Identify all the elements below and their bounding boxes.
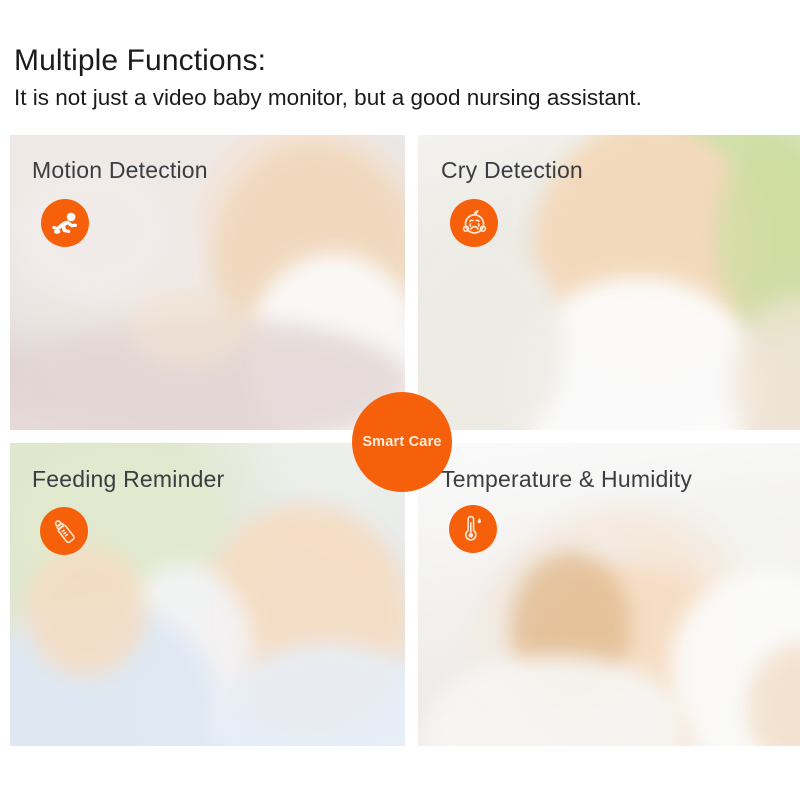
- feeding-reminder-badge[interactable]: [40, 507, 88, 555]
- feature-panel-motion-detection[interactable]: Motion Detection: [10, 135, 405, 430]
- feature-label-cry-detection: Cry Detection: [441, 157, 583, 184]
- page-subtitle: It is not just a video baby monitor, but…: [14, 84, 794, 112]
- page-title: Multiple Functions:: [14, 44, 794, 78]
- feature-panel-temperature-humidity[interactable]: Temperature & Humidity: [418, 443, 800, 746]
- feature-label-motion-detection: Motion Detection: [32, 157, 208, 184]
- feature-label-temperature-humidity: Temperature & Humidity: [441, 466, 692, 493]
- feature-panel-cry-detection[interactable]: Cry Detection: [418, 135, 800, 430]
- page-header: Multiple Functions: It is not just a vid…: [14, 44, 794, 112]
- motion-detection-badge[interactable]: [41, 199, 89, 247]
- baby-bottle-icon: [49, 516, 79, 546]
- smart-care-badge[interactable]: Smart Care: [352, 392, 452, 492]
- smart-care-label: Smart Care: [362, 434, 441, 450]
- temperature-humidity-badge[interactable]: [449, 505, 497, 553]
- thermometer-droplet-icon: [458, 514, 488, 544]
- feature-panel-feeding-reminder[interactable]: Feeding Reminder: [10, 443, 405, 746]
- feature-label-feeding-reminder: Feeding Reminder: [32, 466, 224, 493]
- cry-detection-badge[interactable]: [450, 199, 498, 247]
- crying-baby-face-icon: [459, 208, 490, 239]
- crawling-baby-icon: [50, 208, 80, 238]
